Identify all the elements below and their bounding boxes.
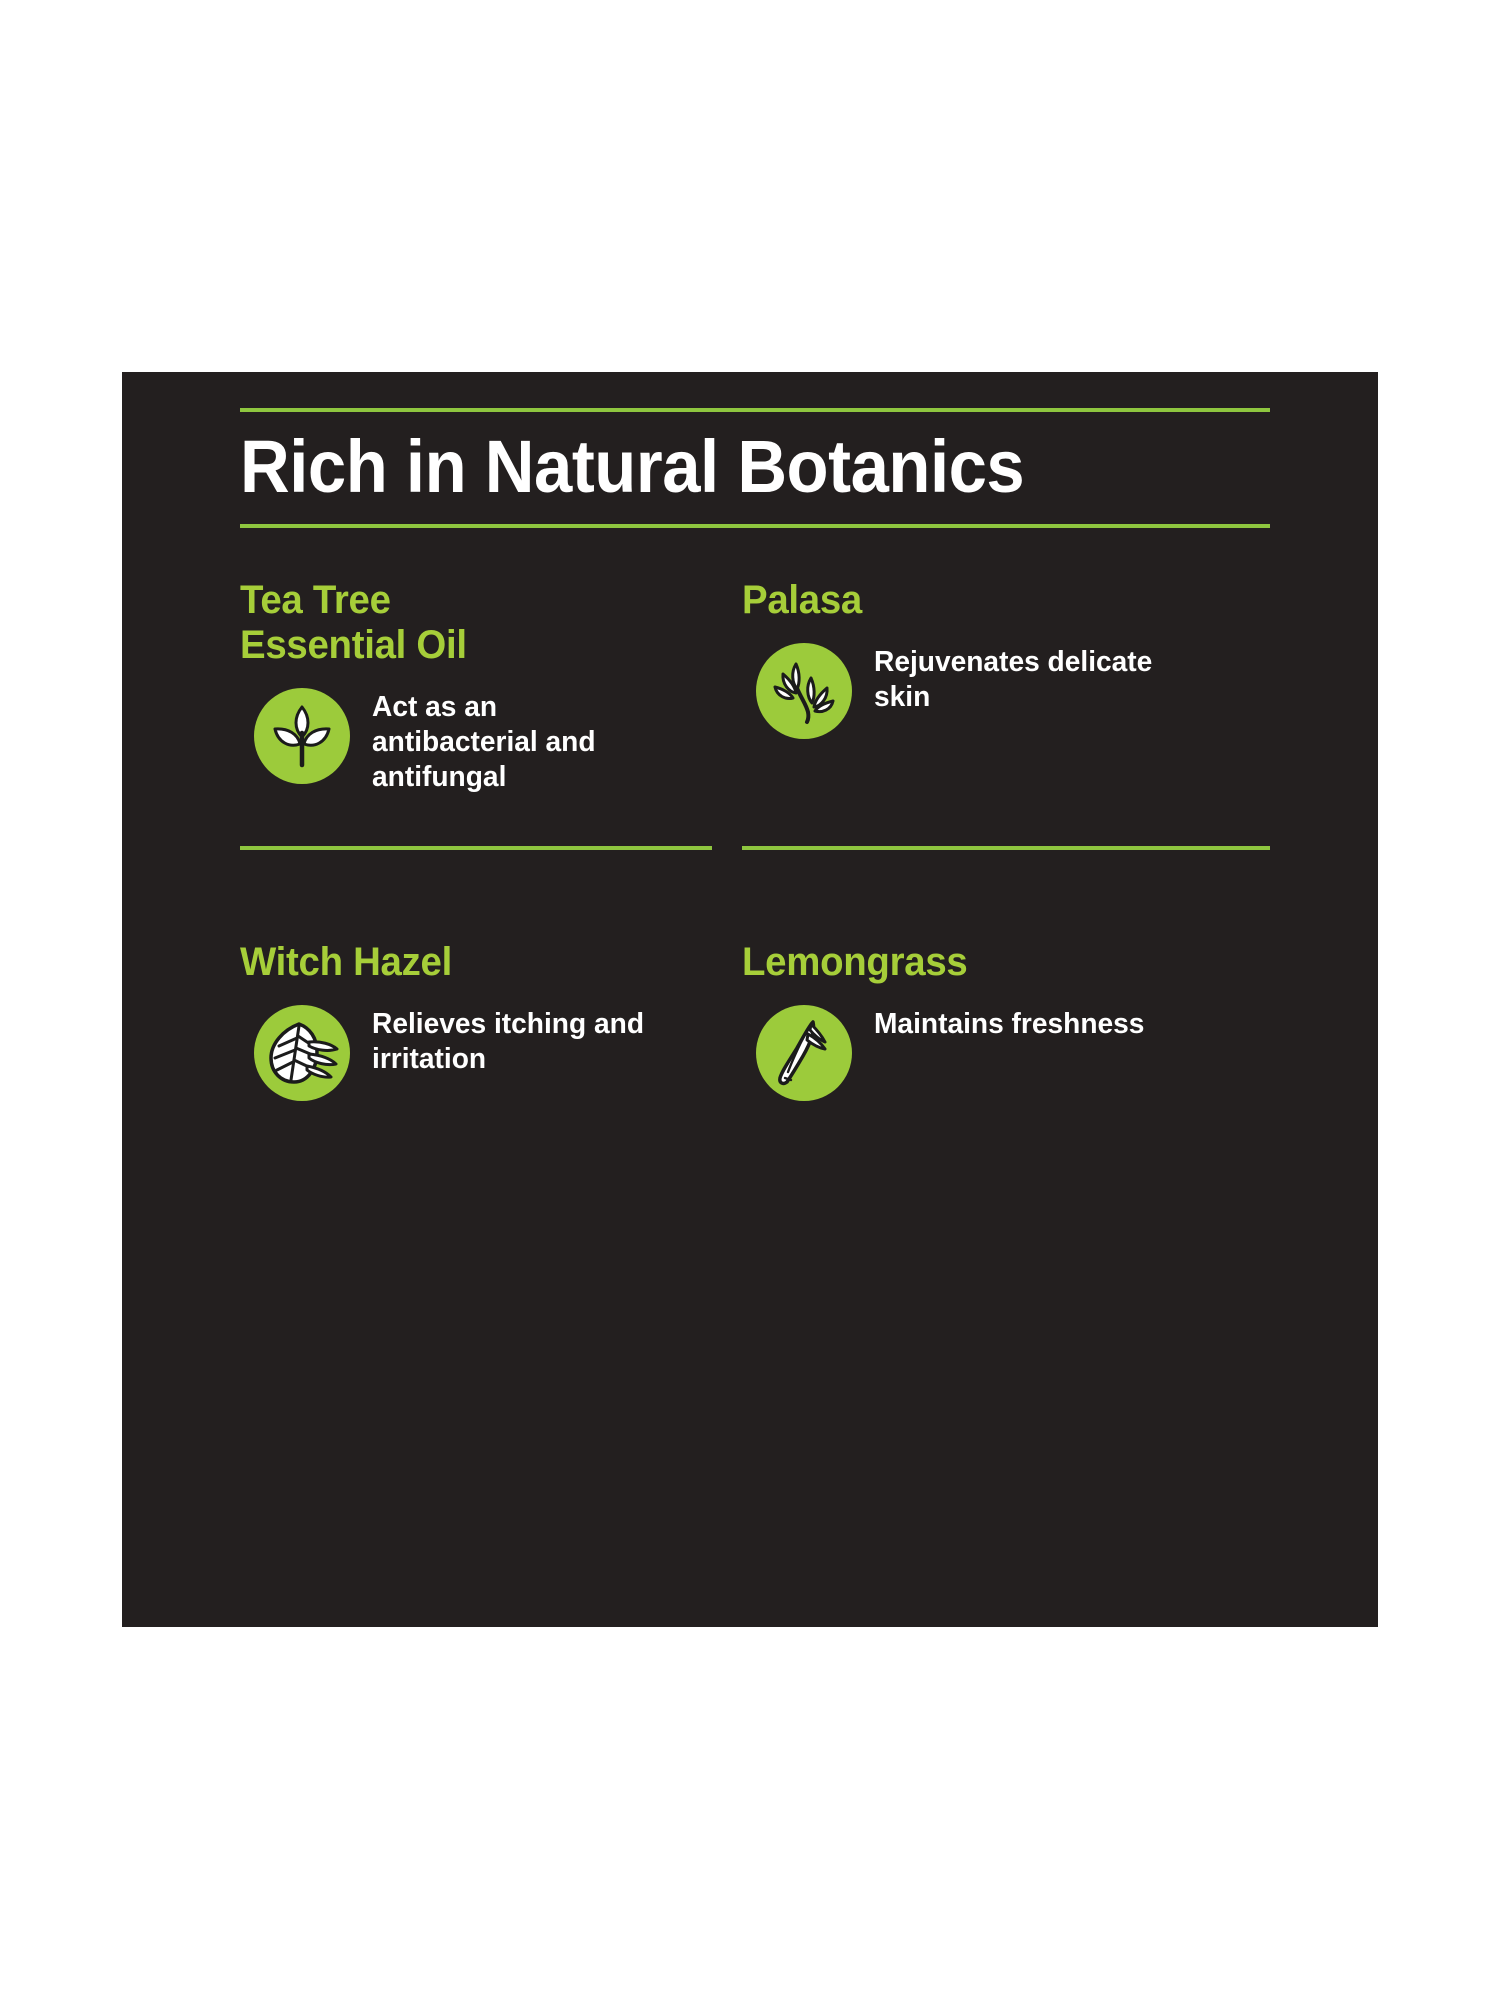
botanical-name: Tea Tree Essential Oil bbox=[240, 578, 691, 668]
botanical-description: Relieves itching and irritation bbox=[372, 1005, 653, 1078]
botanical-body: Act as an antibacterial and antifungal bbox=[240, 688, 710, 796]
row-divider-left bbox=[240, 846, 712, 850]
botanical-card-palasa: Palasa bbox=[742, 578, 1212, 739]
title-rule-bottom bbox=[240, 524, 1270, 528]
botanical-name: Lemongrass bbox=[742, 940, 1193, 985]
botanical-card-lemongrass: Lemongrass bbox=[742, 940, 1212, 1101]
botanics-panel: Rich in Natural Botanics Tea Tree Essent… bbox=[122, 372, 1378, 1627]
wheat-sprig-icon bbox=[756, 643, 852, 739]
sprout-leaf-icon bbox=[254, 688, 350, 784]
lemongrass-stalk-icon bbox=[756, 1005, 852, 1101]
veined-leaf-icon bbox=[254, 1005, 350, 1101]
botanical-card-witch-hazel: Witch Hazel bbox=[240, 940, 710, 1101]
botanical-description: Rejuvenates delicate skin bbox=[874, 643, 1155, 716]
botanicals-row: Tea Tree Essential Oil bbox=[122, 578, 1378, 856]
botanicals-grid: Tea Tree Essential Oil bbox=[122, 578, 1378, 1218]
infographic-canvas: Rich in Natural Botanics Tea Tree Essent… bbox=[0, 0, 1500, 2000]
botanical-name: Palasa bbox=[742, 578, 1193, 623]
botanical-body: Relieves itching and irritation bbox=[240, 1005, 710, 1101]
botanical-name-line2: Essential Oil bbox=[240, 623, 691, 668]
botanical-description: Maintains freshness bbox=[874, 1005, 1144, 1042]
title-rule-top bbox=[240, 408, 1270, 412]
botanical-description: Act as an antibacterial and antifungal bbox=[372, 688, 653, 796]
row-divider-right bbox=[742, 846, 1270, 850]
botanicals-row: Witch Hazel bbox=[122, 940, 1378, 1218]
botanical-name: Witch Hazel bbox=[240, 940, 691, 985]
botanical-body: Maintains freshness bbox=[742, 1005, 1212, 1101]
title-block: Rich in Natural Botanics bbox=[240, 408, 1270, 528]
botanical-card-tea-tree: Tea Tree Essential Oil bbox=[240, 578, 710, 796]
page-title: Rich in Natural Botanics bbox=[240, 420, 1198, 518]
botanical-body: Rejuvenates delicate skin bbox=[742, 643, 1212, 739]
botanical-name-line1: Tea Tree bbox=[240, 578, 691, 623]
